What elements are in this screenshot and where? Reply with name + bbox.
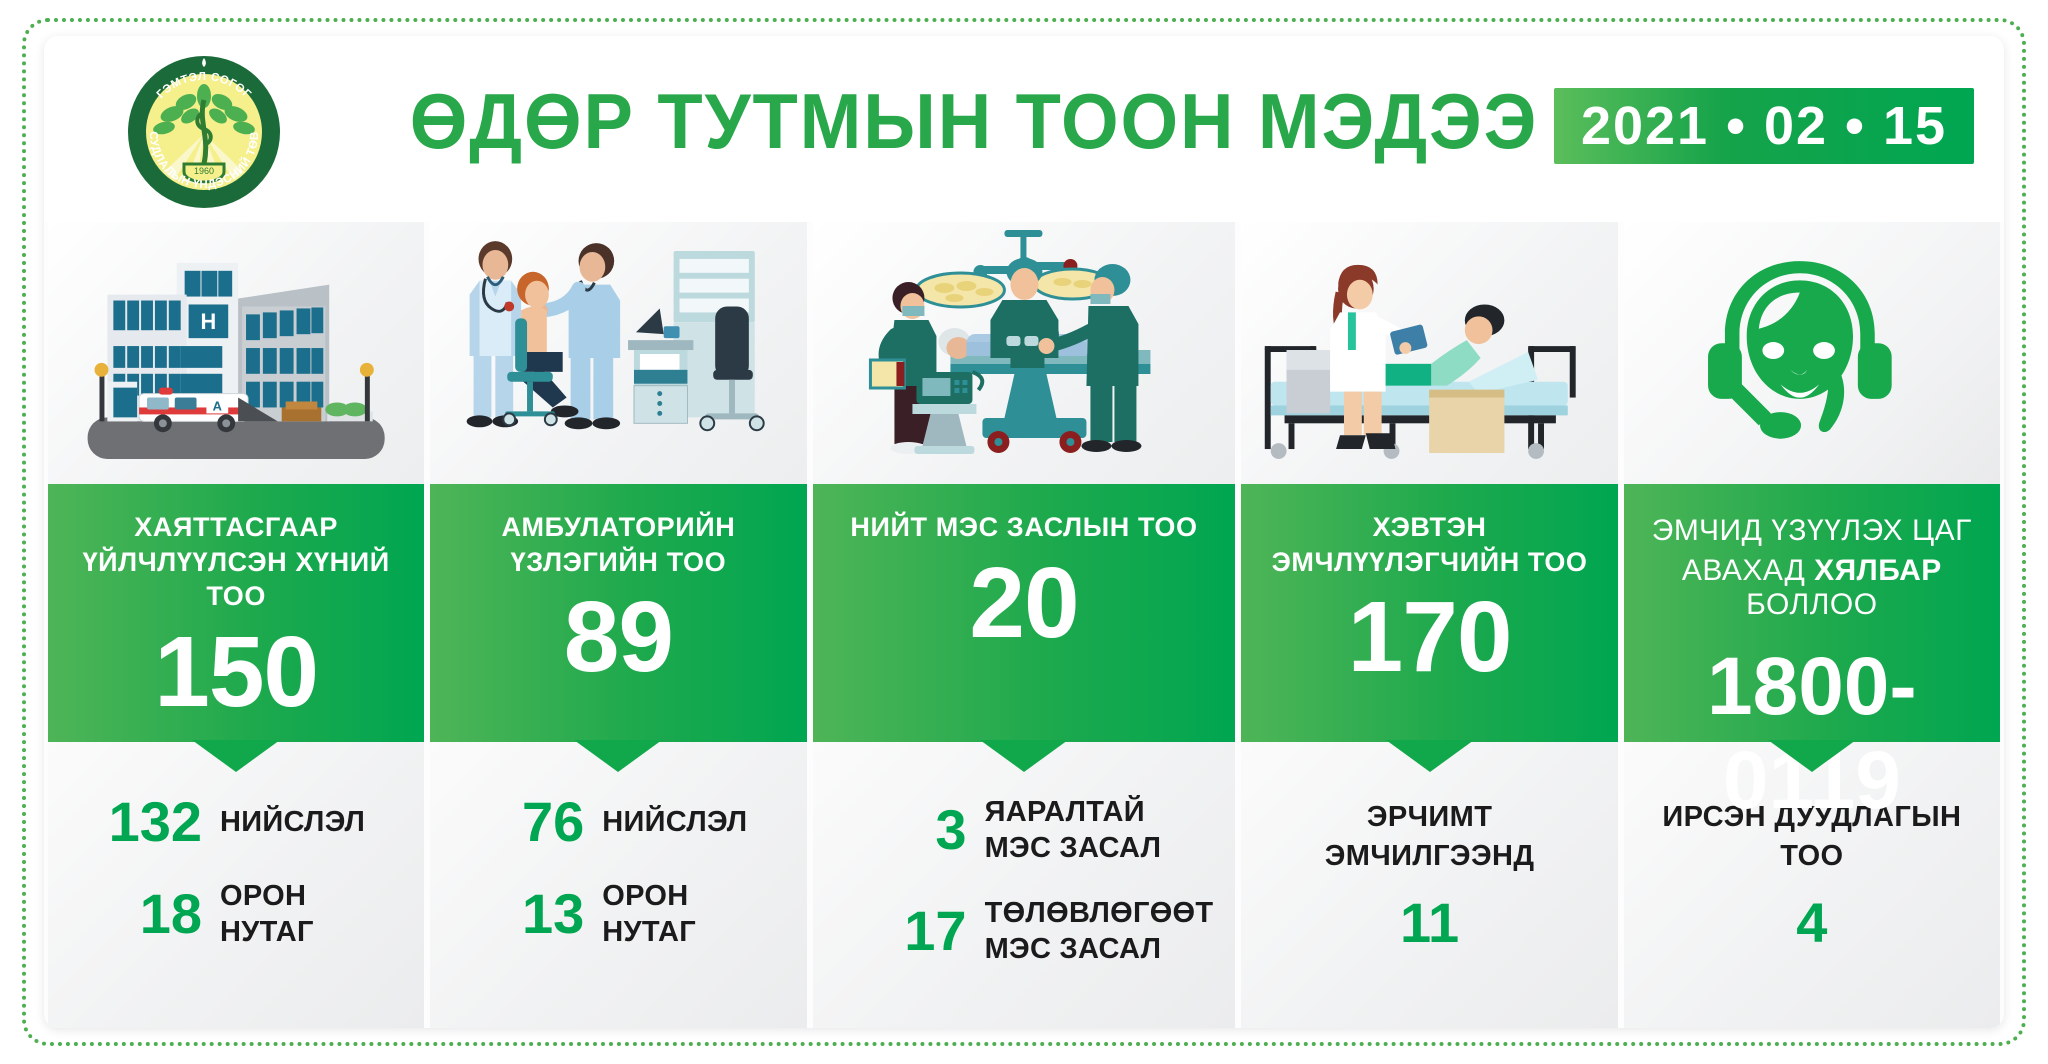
breakdown-label: ОРОН НУТАГ xyxy=(602,878,784,951)
hotline-line-2c: БОЛЛОО xyxy=(1746,588,1877,621)
breakdown-row: 132 НИЙСЛЭЛ xyxy=(70,794,402,850)
svg-text:H: H xyxy=(201,309,217,334)
breakdown-label: НИЙСЛЭЛ xyxy=(220,804,365,840)
hospital-bed-icon xyxy=(1265,346,1576,459)
content-card: 1960 ГЭМТЭЛ СОГОГ СУДЛАЛЫН ҮНДЭСНИЙ ТӨВ … xyxy=(44,36,2004,1028)
stat-value: 89 xyxy=(430,585,806,690)
hotline-emphasis: ХЯЛБАР xyxy=(1814,554,1942,587)
organization-logo: 1960 ГЭМТЭЛ СОГОГ СУДЛАЛЫН ҮНДЭСНИЙ ТӨВ xyxy=(124,52,284,212)
breakdown-row: 76 НИЙСЛЭЛ xyxy=(452,794,784,850)
stat-column-total-surgeries: НИЙТ МЭС ЗАСЛЫН ТОО 20 3 ЯАРАЛТАЙ МЭС ЗА… xyxy=(813,222,1236,1028)
band-outpatient-served: ХАЯТТАСГААР ҮЙЛЧЛҮҮЛСЭН ХҮНИЙ ТОО 150 xyxy=(48,484,424,742)
stat-value: 170 xyxy=(1241,585,1617,690)
logo-year: 1960 xyxy=(194,166,214,176)
hotline-line-2: АВАХАД ХЯЛБАР БОЛЛОО xyxy=(1624,554,2000,622)
breakdown-ambulatory-visits: 76 НИЙСЛЭЛ 13 ОРОН НУТАГ xyxy=(430,742,806,1028)
breakdown-label: НИЙСЛЭЛ xyxy=(602,804,747,840)
hospital-building-icon: H xyxy=(48,222,424,484)
stats-columns: H xyxy=(44,222,2004,1028)
caption: ХАЯТТАСГААР ҮЙЛЧЛҮҮЛСЭН ХҮНИЙ ТОО xyxy=(48,510,424,614)
illustration-consultation xyxy=(430,222,806,484)
caption: ХЭВТЭН ЭМЧЛҮҮЛЭГЧИЙН ТОО xyxy=(1241,510,1617,579)
breakdown-row: 13 ОРОН НУТАГ xyxy=(452,878,784,951)
doctor-standing-icon xyxy=(467,241,521,427)
page-title: ӨДӨР ТУТМЫН ТООН МЭДЭЭ xyxy=(376,82,1573,160)
illustration-inpatient xyxy=(1241,222,1617,484)
calls-value: 4 xyxy=(1646,890,1978,955)
band-notch xyxy=(1386,740,1474,772)
band-notch xyxy=(1768,740,1856,772)
band-hotline: ЭМЧИД ҮЗҮҮЛЭХ ЦАГ АВАХАД ХЯЛБАР БОЛЛОО 1… xyxy=(1624,484,2000,742)
inpatient-bed-icon xyxy=(1241,222,1617,484)
band-total-surgeries: НИЙТ МЭС ЗАСЛЫН ТОО 20 xyxy=(813,484,1236,742)
stat-column-inpatients: ХЭВТЭН ЭМЧЛҮҮЛЭГЧИЙН ТОО 170 ЭРЧИМТ ЭМЧИ… xyxy=(1241,222,1617,1028)
breakdown-inpatients: ЭРЧИМТ ЭМЧИЛГЭЭНД 11 xyxy=(1241,742,1617,1028)
breakdown-label: ТӨЛӨВЛӨГӨӨТ МЭС ЗАСАЛ xyxy=(985,895,1214,968)
illustration-call-center xyxy=(1624,222,2000,484)
breakdown-row: 3 ЯАРАЛТАЙ МЭС ЗАСАЛ xyxy=(835,794,1214,867)
icu-value: 11 xyxy=(1263,890,1595,955)
hotline-line-1: ЭМЧИД ҮЗҮҮЛЭХ ЦАГ xyxy=(1624,514,2000,548)
breakdown-label: ЯАРАЛТАЙ МЭС ЗАСАЛ xyxy=(985,794,1214,867)
surgery-operation-icon xyxy=(813,222,1236,484)
stat-value: 20 xyxy=(813,551,1236,656)
band-notch xyxy=(980,740,1068,772)
stat-column-ambulatory-visits: АМБУЛАТОРИЙН ҮЗЛЭГИЙН ТОО 89 76 НИЙСЛЭЛ … xyxy=(430,222,806,1028)
band-inpatients: ХЭВТЭН ЭМЧЛҮҮЛЭГЧИЙН ТОО 170 xyxy=(1241,484,1617,742)
caption: НИЙТ МЭС ЗАСЛЫН ТОО xyxy=(813,510,1236,545)
band-notch xyxy=(192,740,280,772)
infographic-poster: 1960 ГЭМТЭЛ СОГОГ СУДЛАЛЫН ҮНДЭСНИЙ ТӨВ … xyxy=(0,0,2048,1064)
icu-label: ЭРЧИМТ ЭМЧИЛГЭЭНД xyxy=(1263,798,1595,876)
stat-column-hotline: ЭМЧИД ҮЗҮҮЛЭХ ЦАГ АВАХАД ХЯЛБАР БОЛЛОО 1… xyxy=(1624,222,2000,1028)
logo-emblem-icon: 1960 ГЭМТЭЛ СОГОГ СУДЛАЛЫН ҮНДЭСНИЙ ТӨВ xyxy=(124,52,284,212)
breakdown-number: 17 xyxy=(871,903,967,959)
band-ambulatory-visits: АМБУЛАТОРИЙН ҮЗЛЭГИЙН ТОО 89 xyxy=(430,484,806,742)
breakdown-number: 13 xyxy=(488,886,584,942)
breakdown-row: 17 ТӨЛӨВЛӨГӨӨТ МЭС ЗАСАЛ xyxy=(835,895,1214,968)
breakdown-total-surgeries: 3 ЯАРАЛТАЙ МЭС ЗАСАЛ 17 ТӨЛӨВЛӨГӨӨТ МЭС … xyxy=(813,742,1236,1028)
stat-column-outpatient-served: H xyxy=(48,222,424,1028)
breakdown-number: 3 xyxy=(871,802,967,858)
caption: АМБУЛАТОРИЙН ҮЗЛЭГИЙН ТОО xyxy=(430,510,806,579)
svg-text:A: A xyxy=(213,398,222,413)
breakdown-number: 132 xyxy=(106,794,202,850)
band-notch xyxy=(574,740,662,772)
breakdown-label: ОРОН НУТАГ xyxy=(220,878,402,951)
call-center-operator-icon xyxy=(1624,222,2000,484)
date-badge: 2021 • 02 • 15 xyxy=(1554,88,1974,164)
breakdown-number: 18 xyxy=(106,886,202,942)
hotline-phone-number[interactable]: 1800-0119 xyxy=(1624,640,2000,828)
stat-value: 150 xyxy=(48,620,424,725)
breakdown-number: 76 xyxy=(488,794,584,850)
hotline-line-2a: АВАХАД xyxy=(1682,554,1814,587)
illustration-surgery xyxy=(813,222,1236,484)
breakdown-row: 18 ОРОН НУТАГ xyxy=(70,878,402,951)
header: 1960 ГЭМТЭЛ СОГОГ СУДЛАЛЫН ҮНДЭСНИЙ ТӨВ … xyxy=(44,36,2004,222)
breakdown-outpatient-served: 132 НИЙСЛЭЛ 18 ОРОН НУТАГ xyxy=(48,742,424,1028)
doctor-consultation-icon xyxy=(430,222,806,484)
illustration-hospital: H xyxy=(48,222,424,484)
